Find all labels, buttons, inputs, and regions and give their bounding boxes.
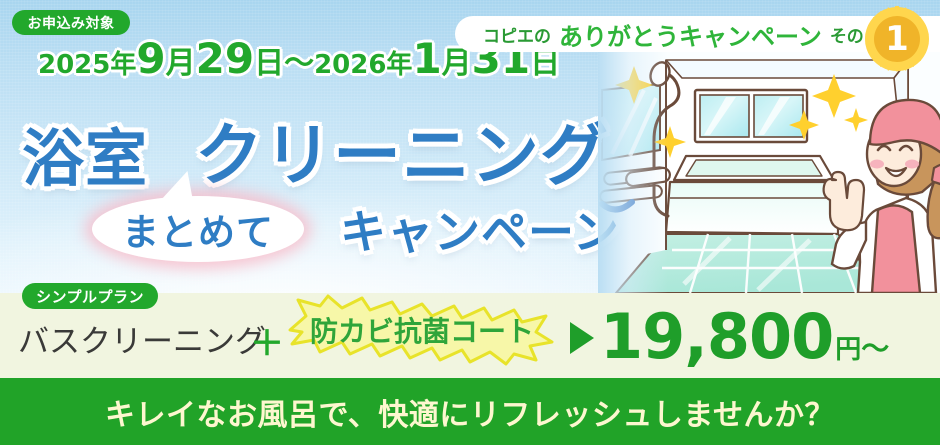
bathroom-illustration <box>598 52 940 293</box>
price-block: 19,800円〜 <box>600 300 889 373</box>
campaign-number-value: 1 <box>864 6 930 72</box>
matomete-speech-bubble: まとめて <box>92 196 304 262</box>
headline-line-1: 浴室 <box>22 108 148 198</box>
period-month-unit-from: 月 <box>166 46 196 81</box>
bubble-text: まとめて <box>92 196 304 262</box>
price-tilde: 〜 <box>861 332 889 365</box>
price-arrow-icon <box>570 322 594 354</box>
period-separator: 〜 <box>284 46 314 81</box>
bathroom-scene-svg <box>598 52 940 293</box>
promo-banner: お申込み対象 2025年9月29日〜2026年1月31日 コピエの ありがとうキ… <box>0 0 940 445</box>
footer-message: キレイなお風呂で、快適にリフレッシュしませんか？ <box>0 378 940 445</box>
plan-badge: シンプルプラン <box>22 283 158 309</box>
headline-line-3: キャンペーン <box>340 196 620 262</box>
price-currency: 円 <box>835 335 861 365</box>
service-name: バスクリーニング <box>18 316 266 361</box>
apply-target-badge: お申込み対象 <box>12 10 130 35</box>
period-month-to: 1 <box>412 34 441 83</box>
addon-starburst: 防カビ抗菌コート <box>284 294 560 366</box>
campaign-number-badge: 1 <box>864 6 930 72</box>
addon-label: 防カビ抗菌コート <box>284 294 560 366</box>
period-year-to: 2026年 <box>314 50 412 80</box>
period-year-from: 2025年 <box>38 50 136 80</box>
price-amount: 19,800 <box>600 300 833 373</box>
period-day-from: 29 <box>196 34 254 83</box>
campaign-prefix: コピエの <box>483 22 551 47</box>
headline-line-2: クリーニング <box>195 100 609 199</box>
period-month-from: 9 <box>136 34 165 83</box>
period-day-unit-from: 日 <box>254 46 284 81</box>
campaign-main-title: ありがとうキャンペーン <box>559 17 822 52</box>
campaign-suffix: その <box>830 22 864 47</box>
plus-sign: ＋ <box>250 316 284 365</box>
